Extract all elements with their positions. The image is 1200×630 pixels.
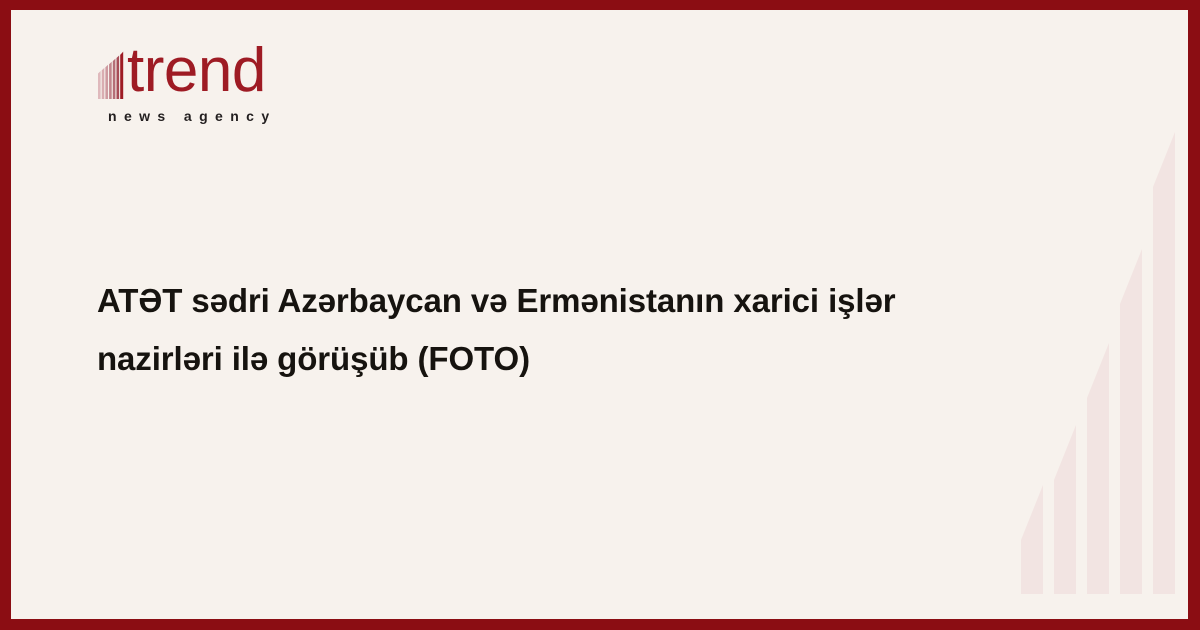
social-share-card: trend news agency ATƏT sədri Azərbaycan … (0, 0, 1200, 630)
logo-tagline: news agency (108, 109, 277, 123)
decor-bar-2 (1054, 425, 1076, 594)
decorative-ascending-bars-graphic (1021, 10, 1176, 619)
card-inner-surface: trend news agency ATƏT sədri Azərbaycan … (11, 10, 1188, 619)
article-headline: ATƏT sədri Azərbaycan və Ermənistanın xa… (97, 272, 1027, 388)
decor-bar-1 (1021, 485, 1043, 594)
logo-wordmark: trend (127, 40, 266, 102)
decor-bar-4 (1120, 249, 1142, 594)
decor-bar-5 (1153, 132, 1175, 594)
decor-bar-group (1021, 132, 1175, 594)
trend-news-agency-logo[interactable]: trend news agency (97, 48, 357, 136)
logo-ascending-bars-icon (97, 51, 127, 99)
decor-bar-3 (1087, 343, 1109, 594)
